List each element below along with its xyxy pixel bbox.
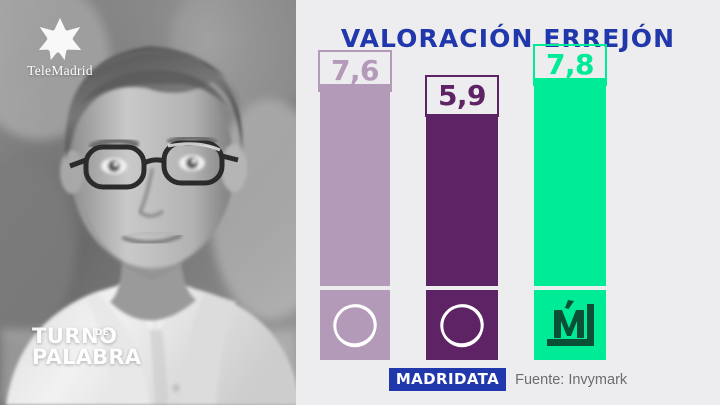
podemos-circle-icon <box>320 290 390 360</box>
bar-2 <box>426 114 498 286</box>
value-label-1: 7,6 <box>331 57 379 85</box>
party-logo-box-1 <box>320 290 390 360</box>
watermark-de: DE <box>95 329 109 338</box>
bar-3 <box>534 78 606 286</box>
masmadrid-m-icon <box>534 290 606 360</box>
watermark-line2: PALABRA <box>32 347 162 368</box>
chart-footer: MADRIDATA Fuente: Invymark <box>296 368 720 391</box>
bar-group-2: 5,9 <box>426 70 498 360</box>
bar-1 <box>320 84 390 286</box>
bar-group-1: 7,6 <box>320 44 390 360</box>
bar-chart: 7,6 5,9 <box>296 0 720 405</box>
value-callout-2: 5,9 <box>425 75 499 117</box>
source-label: Fuente: Invymark <box>515 372 627 388</box>
podemos-circle-icon <box>426 290 498 360</box>
program-watermark: TURNO DE PALABRA <box>32 326 162 368</box>
value-label-3: 7,8 <box>546 51 594 79</box>
madridata-brand: MADRIDATA <box>389 368 506 391</box>
value-label-2: 5,9 <box>438 82 486 110</box>
bar-group-3: 7,8 <box>534 38 606 360</box>
party-logo-box-2 <box>426 290 498 360</box>
party-logo-box-3 <box>534 290 606 360</box>
broadcast-graphic: TeleMadrid TURNO DE PALABRA VALORACIÓN E… <box>0 0 720 405</box>
